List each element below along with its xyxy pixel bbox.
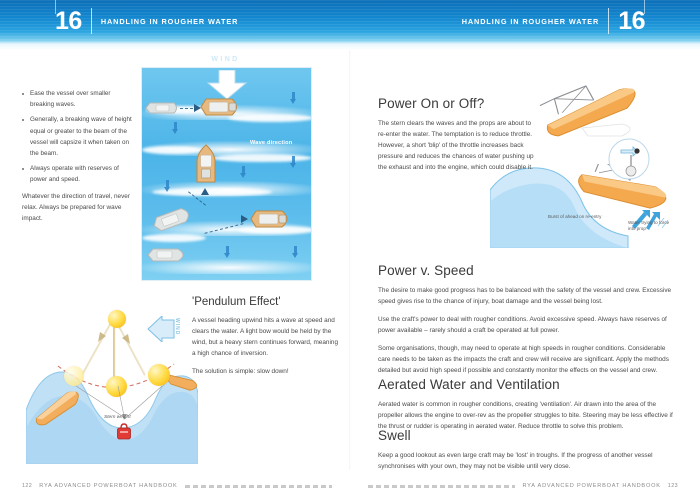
- left-bullet-block: Ease the vessel over smaller breaking wa…: [22, 88, 132, 231]
- track-arrow-icon: [201, 188, 209, 195]
- section-heading-aerated-water: Aerated Water and Ventilation: [378, 377, 676, 392]
- pendulum-paragraph-1: A vessel heading upwind hits a wave at s…: [192, 315, 342, 359]
- boat-icon: [194, 144, 218, 188]
- footer-rule-left: [185, 485, 332, 488]
- footer-right: RYA ADVANCED POWERBOAT HANDBOOK 123: [368, 483, 678, 489]
- section-heading-swell: Swell: [378, 428, 676, 443]
- footer-left: 122 RYA ADVANCED POWERBOAT HANDBOOK: [22, 483, 332, 489]
- pendulum-wind-label: WIND: [174, 318, 180, 335]
- power-v-speed-paragraph-3: Some organisations, though, may need to …: [378, 343, 676, 376]
- track-arrow-icon: [194, 104, 201, 112]
- wave-direction-arrow: [290, 156, 297, 168]
- header-left-chapter: 16 HANDLING IN ROUGHER WATER: [55, 5, 238, 37]
- wave-direction-arrow: [164, 180, 171, 192]
- wind-arrow-icon: [146, 316, 176, 342]
- chapter-number-left: 16: [55, 9, 82, 34]
- stern-weight-label: Stern weight: [104, 415, 131, 420]
- page-gutter: [349, 50, 351, 470]
- boat-icon: [248, 208, 294, 230]
- pendulum-ball-left: [64, 366, 84, 386]
- boat-icon: [198, 96, 242, 118]
- boat-ghost-icon: [144, 100, 180, 116]
- wave-direction-arrow: [224, 246, 231, 258]
- foam-streak: [142, 234, 206, 242]
- boat-ghost-icon: [150, 206, 196, 232]
- foam-streak: [212, 154, 312, 162]
- water-into-prop-label: Water trying to force into prop: [628, 220, 670, 232]
- section-heading-power-v-speed: Power v. Speed: [378, 263, 676, 278]
- section-power-v-speed: Power v. Speed The desire to make good p…: [378, 263, 676, 383]
- wave-direction-arrow: [240, 166, 247, 178]
- throttle-callout-icon: [608, 138, 650, 180]
- foam-streak: [142, 146, 202, 154]
- power-v-speed-paragraph-1: The desire to make good progress has to …: [378, 285, 676, 307]
- chapter-title-left: HANDLING IN ROUGHER WATER: [101, 17, 239, 26]
- wave-direction-label: Wave direction: [250, 140, 292, 146]
- page-header: 16 HANDLING IN ROUGHER WATER HANDLING IN…: [0, 0, 700, 44]
- list-item: Generally, a breaking wave of height equ…: [22, 114, 132, 159]
- swell-paragraph-1: Keep a good lookout as even large craft …: [378, 450, 676, 472]
- section-heading-pendulum: 'Pendulum Effect': [192, 296, 342, 308]
- page-number-left: 122: [22, 483, 32, 489]
- chapter-number-right: 16: [618, 9, 645, 34]
- pendulum-effect-figure: Stern weight WIND: [26, 292, 198, 464]
- book-title-right: RYA ADVANCED POWERBOAT HANDBOOK: [522, 483, 660, 489]
- power-on-off-paragraph-1: The stern clears the waves and the props…: [378, 118, 535, 173]
- list-item: Always operate with reserves of power an…: [22, 163, 132, 185]
- section-heading-power-on-off: Power On or Off?: [378, 96, 535, 111]
- airborne-hull-icon: [526, 76, 666, 146]
- left-closing-paragraph: Whatever the direction of travel, never …: [22, 191, 132, 224]
- stern-weight-bag-icon: [116, 423, 132, 441]
- chapter-divider-left: [91, 8, 92, 34]
- wave-direction-arrow: [172, 122, 179, 134]
- pendulum-pivot-ball: [108, 310, 126, 328]
- rough-water-bullet-list: Ease the vessel over smaller breaking wa…: [22, 88, 132, 186]
- wave-figure-wind-label: WIND: [141, 56, 310, 63]
- section-swell: Swell Keep a good lookout as even large …: [378, 428, 676, 479]
- pendulum-ball-right: [148, 364, 170, 386]
- header-right-chapter: HANDLING IN ROUGHER WATER 16: [462, 5, 645, 37]
- chapter-title-right: HANDLING IN ROUGHER WATER: [462, 17, 600, 26]
- section-power-on-or-off: Power On or Off? The stern clears the wa…: [378, 96, 535, 180]
- book-title-left: RYA ADVANCED POWERBOAT HANDBOOK: [39, 483, 177, 489]
- boat-ghost-icon: [146, 246, 190, 264]
- chapter-divider-right: [608, 8, 609, 34]
- track-arrow-icon: [241, 215, 248, 223]
- page-footer: 122 RYA ADVANCED POWERBOAT HANDBOOK RYA …: [0, 475, 700, 499]
- book-spread: 16 HANDLING IN ROUGHER WATER HANDLING IN…: [0, 0, 700, 499]
- footer-rule-right: [368, 485, 515, 488]
- page-number-right: 123: [668, 483, 678, 489]
- wave-direction-arrow: [290, 92, 297, 104]
- burst-label: Burst of ahead on re-entry: [548, 214, 601, 220]
- pendulum-effect-section: 'Pendulum Effect' A vessel heading upwin…: [192, 296, 342, 384]
- power-v-speed-paragraph-2: Use the craft's power to deal with rough…: [378, 314, 676, 336]
- wave-handling-figure: Wave direction: [141, 67, 312, 281]
- wave-direction-arrow: [292, 246, 299, 258]
- pendulum-paragraph-2: The solution is simple: slow down!: [192, 366, 342, 377]
- list-item: Ease the vessel over smaller breaking wa…: [22, 88, 132, 110]
